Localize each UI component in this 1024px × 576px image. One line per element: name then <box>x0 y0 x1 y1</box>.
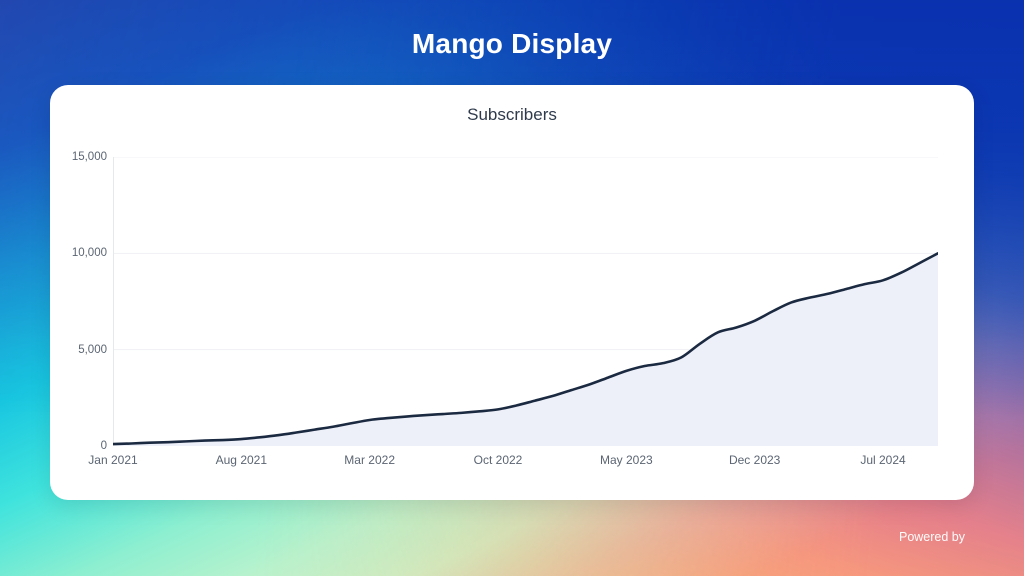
x-axis-tick-label: Mar 2022 <box>344 453 395 467</box>
screenshot-root: Mango Display Subscribers 05,00010,00015… <box>0 0 1024 576</box>
chart-title: Subscribers <box>50 105 974 125</box>
x-axis-tick-label: Aug 2021 <box>216 453 267 467</box>
y-axis-tick-labels: 05,00010,00015,000 <box>50 157 107 446</box>
x-axis-tick-label: Oct 2022 <box>474 453 523 467</box>
x-axis-tick-label: Jan 2021 <box>88 453 137 467</box>
y-axis-tick-label: 0 <box>101 440 107 452</box>
x-axis-tick-label: Jul 2024 <box>860 453 905 467</box>
x-axis-tick-label: May 2023 <box>600 453 653 467</box>
chart-plot-area <box>113 157 938 446</box>
page-title: Mango Display <box>0 24 1024 64</box>
subscribers-area-chart <box>113 157 938 446</box>
chart-card: Subscribers 05,00010,00015,000 Jan 2021A… <box>50 85 974 500</box>
x-axis-tick-label: Dec 2023 <box>729 453 780 467</box>
powered-by-label: Powered by <box>899 528 965 546</box>
x-axis-tick-labels: Jan 2021Aug 2021Mar 2022Oct 2022May 2023… <box>113 453 938 473</box>
y-axis-tick-label: 10,000 <box>72 247 107 259</box>
y-axis-tick-label: 5,000 <box>78 344 107 356</box>
y-axis-tick-label: 15,000 <box>72 151 107 163</box>
